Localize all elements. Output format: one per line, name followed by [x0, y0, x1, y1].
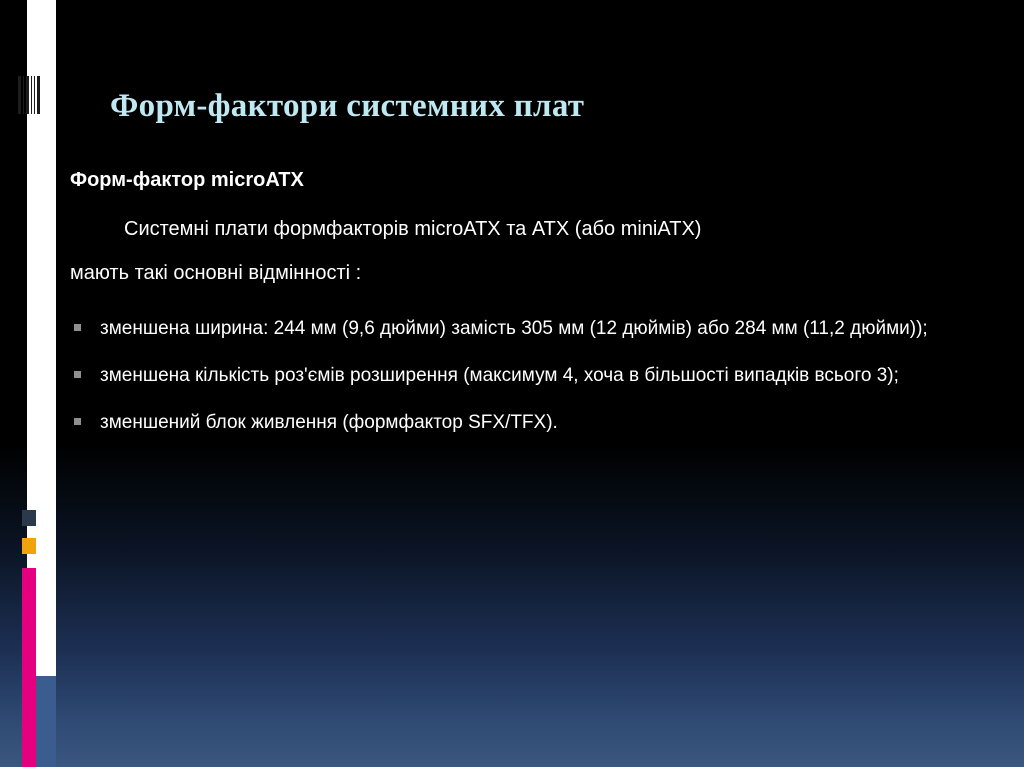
list-item: зменшена ширина: 244 мм (9,6 дюйми) замі… [70, 310, 1000, 347]
slide-title: Форм-фактори системних плат [110, 88, 584, 125]
list-item-text: зменшена ширина: 244 мм (9,6 дюйми) замі… [100, 318, 928, 339]
rail-blue-band [36, 676, 56, 767]
bullet-square-icon [74, 418, 81, 425]
rail-chip-dark [22, 510, 36, 526]
decorative-left-rail [0, 0, 56, 767]
barcode-icon [18, 76, 40, 114]
rail-chip-amber [22, 538, 36, 554]
list-item-text: зменшена кількість роз'ємів розширення (… [100, 365, 899, 386]
slide-body: Форм-фактор microATX Системні плати форм… [70, 168, 1000, 451]
intro-paragraph-text-1: Системні плати формфакторів microATX та … [124, 218, 701, 240]
bullet-list: зменшена ширина: 244 мм (9,6 дюйми) замі… [70, 310, 1000, 441]
rail-pink-band [22, 568, 36, 767]
slide: Форм-фактори системних плат Форм-фактор … [0, 0, 1024, 767]
list-item: зменшена кількість роз'ємів розширення (… [70, 357, 1000, 394]
bullet-square-icon [74, 324, 81, 331]
section-heading: Форм-фактор microATX [70, 168, 1000, 192]
bullet-square-icon [74, 371, 81, 378]
list-item-text: зменшений блок живлення (формфактор SFX/… [100, 412, 558, 433]
list-item: зменшений блок живлення (формфактор SFX/… [70, 404, 1000, 441]
intro-paragraph-line-2: мають такі основні відмінності : [70, 254, 1000, 292]
intro-paragraph-line-1: Системні плати формфакторів microATX та … [70, 210, 1000, 248]
